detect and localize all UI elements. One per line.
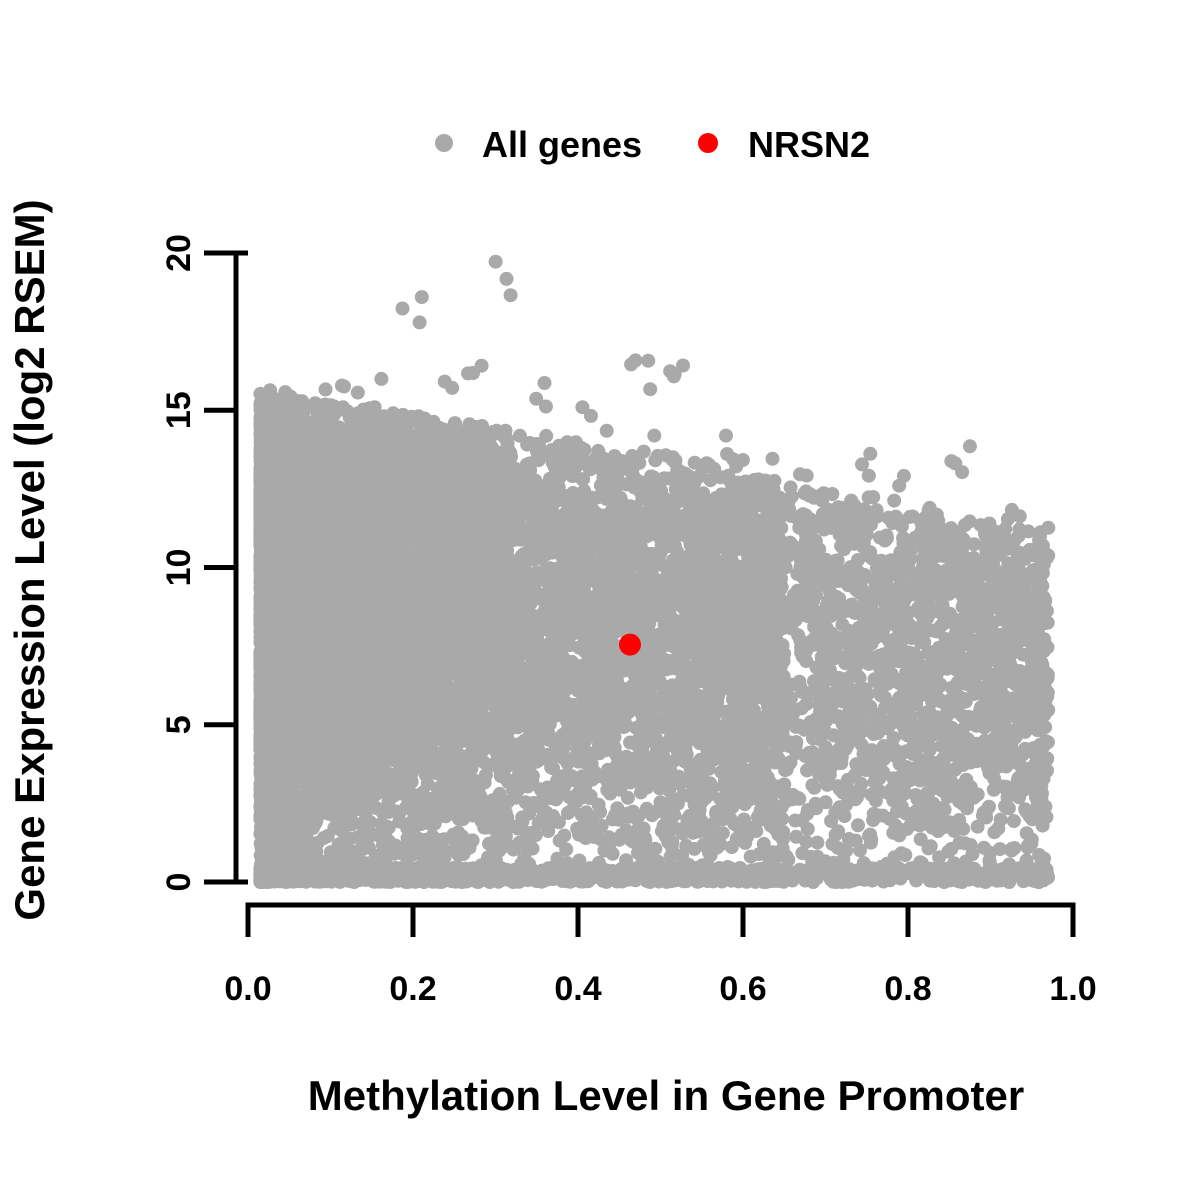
legend-label-all-genes: All genes — [482, 124, 642, 165]
highlight-marker-nrsn2 — [619, 634, 641, 656]
legend-marker-all-genes — [435, 134, 453, 152]
x-tick-label: 0.2 — [389, 970, 436, 1008]
x-tick-label: 0.0 — [224, 970, 271, 1008]
scatter-plot-figure: All genes NRSN2 05101520 0.00.20.40.60.8… — [0, 0, 1200, 1200]
legend-label-nrsn2: NRSN2 — [748, 124, 870, 165]
y-tick-label: 20 — [160, 234, 198, 272]
y-tick-label: 10 — [160, 549, 198, 587]
y-tick-label: 15 — [160, 391, 198, 429]
x-tick-label: 0.6 — [719, 970, 766, 1008]
x-tick-label: 0.4 — [554, 970, 601, 1008]
x-tick-label: 1.0 — [1049, 970, 1096, 1008]
legend-marker-nrsn2 — [698, 133, 718, 153]
x-tick-label: 0.8 — [884, 970, 931, 1008]
y-axis-title: Gene Expression Level (log2 RSEM) — [6, 199, 53, 920]
x-axis-title: Methylation Level in Gene Promoter — [308, 1072, 1024, 1119]
y-tick-label: 5 — [160, 715, 198, 734]
plot-canvas: All genes NRSN2 05101520 0.00.20.40.60.8… — [0, 0, 1200, 1200]
y-tick-label: 0 — [160, 873, 198, 892]
data-point-nrsn2 — [619, 634, 641, 656]
